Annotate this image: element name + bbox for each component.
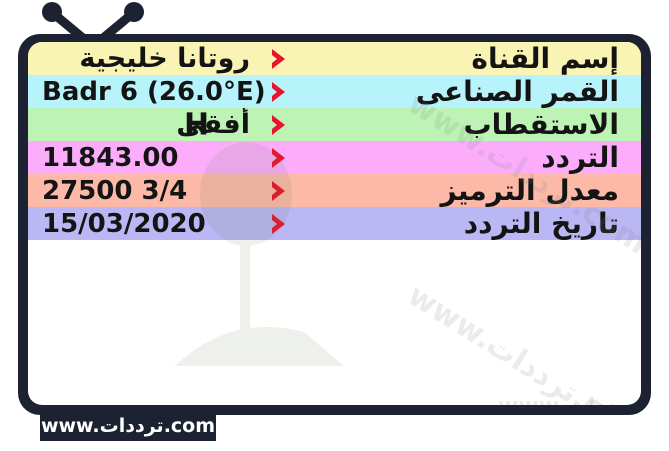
tv-frame: روتانا خليجيةإسم القناةBadr 6 (26.0°E)ال… bbox=[18, 34, 651, 415]
row-satellite: Badr 6 (26.0°E)القمر الصناعى bbox=[28, 75, 641, 108]
site-logo-text: www.ترددات.com bbox=[41, 415, 215, 437]
row-value-satellite: Badr 6 (26.0°E) bbox=[28, 77, 264, 107]
row-label-channel-name: إسم القناة bbox=[294, 42, 641, 75]
watermark-text: www.ترددات.com bbox=[498, 394, 641, 405]
tv-screen: روتانا خليجيةإسم القناةBadr 6 (26.0°E)ال… bbox=[28, 42, 641, 405]
satellite-dish-ghost-icon bbox=[154, 120, 384, 370]
row-channel-name: روتانا خليجيةإسم القناة bbox=[28, 42, 641, 75]
screenshot-canvas: روتانا خليجيةإسم القناةBadr 6 (26.0°E)ال… bbox=[0, 0, 669, 451]
chevron-right-icon bbox=[264, 79, 294, 105]
row-value-channel-name: روتانا خليجية bbox=[28, 43, 264, 74]
watermark-text: www.ترددات.com bbox=[401, 278, 641, 405]
row-label-satellite: القمر الصناعى bbox=[294, 75, 641, 108]
chevron-right-icon bbox=[264, 46, 294, 72]
site-logo-badge: www.ترددات.com bbox=[40, 410, 216, 441]
